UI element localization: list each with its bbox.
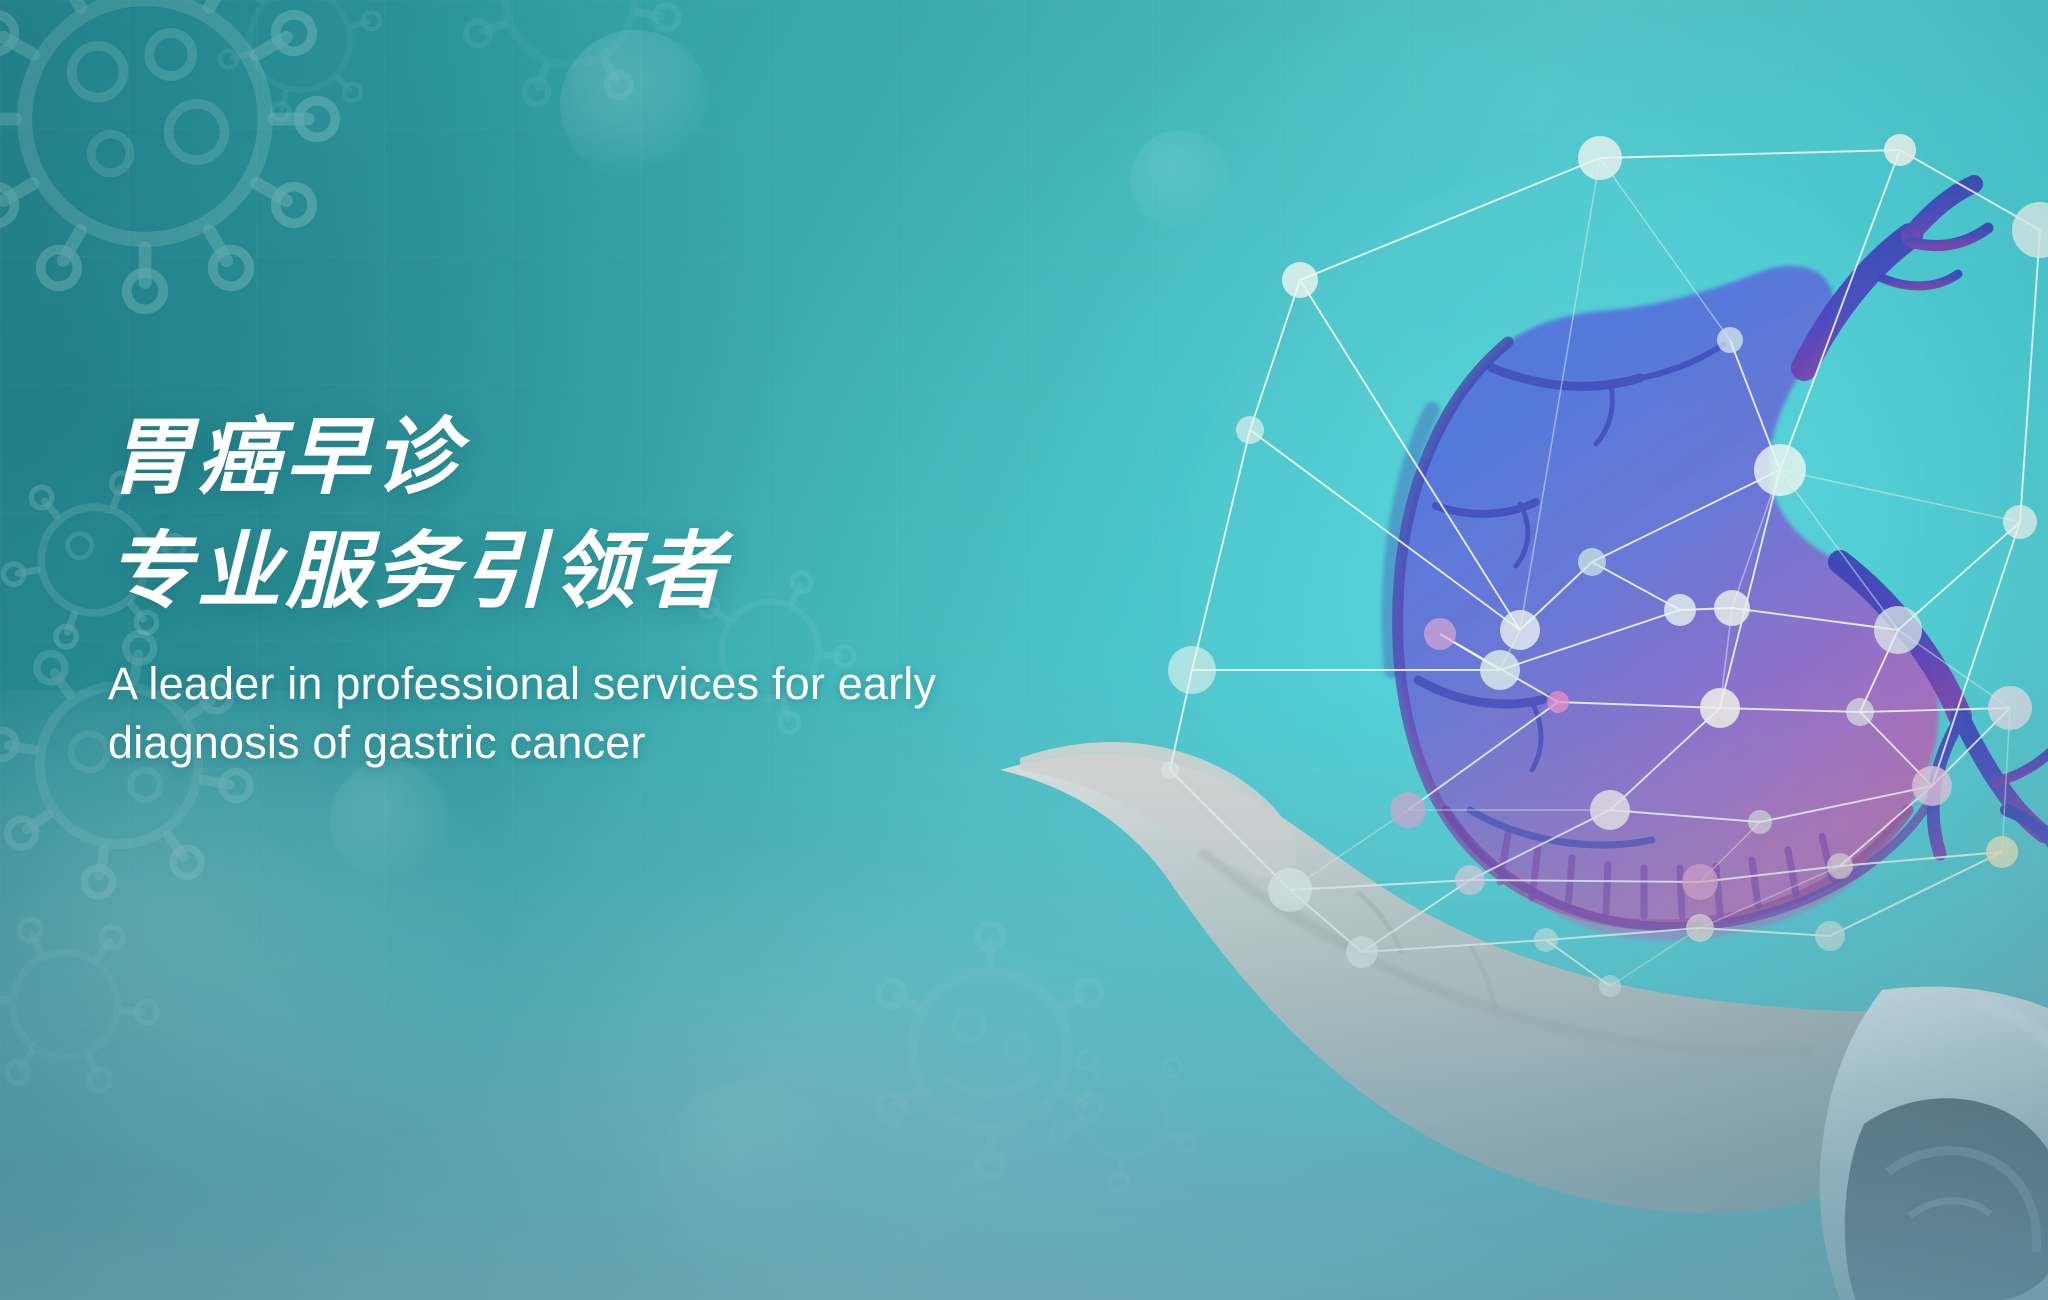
subhead-line-2: diagnosis of gastric cancer — [108, 714, 948, 773]
page-subtitle: A leader in professional services for ea… — [108, 655, 948, 772]
banner-root: 胃癌早诊 专业服务引领者 A leader in professional se… — [0, 0, 2048, 1300]
headline-line-2: 专业服务引领者 — [108, 518, 1128, 626]
page-title: 胃癌早诊 专业服务引领者 — [108, 404, 1128, 625]
headline-block: 胃癌早诊 专业服务引领者 A leader in professional se… — [108, 404, 1128, 772]
subhead-line-1: A leader in professional services for ea… — [108, 655, 948, 714]
headline-line-1: 胃癌早诊 — [108, 404, 1128, 512]
